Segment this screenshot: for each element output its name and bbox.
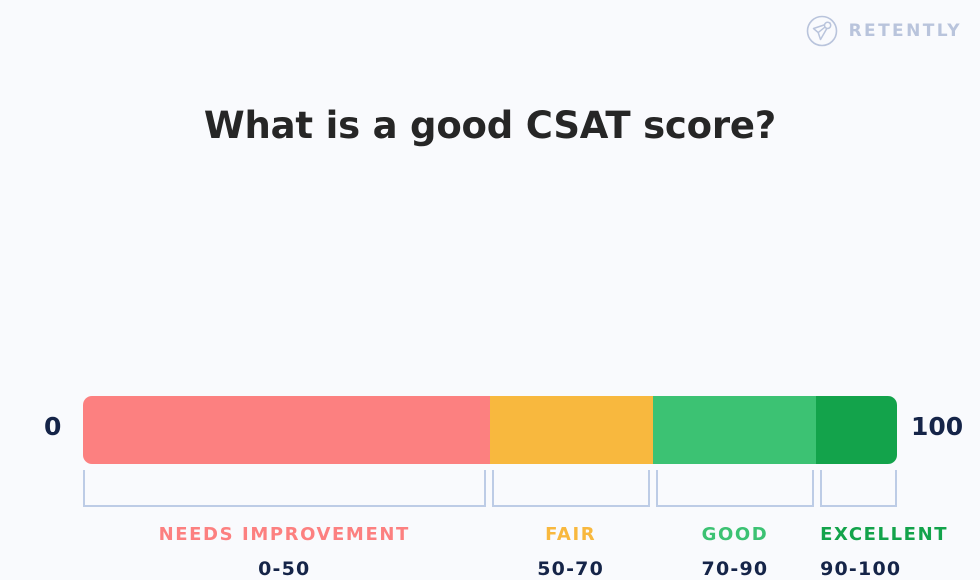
bracket-good (656, 470, 814, 507)
category-range-excellent: 90-100 (820, 558, 897, 580)
bar-segment-needs-improvement (83, 396, 490, 464)
category-name-good: GOOD (656, 524, 814, 546)
scale-max-label: 100 (911, 414, 963, 439)
bar-segment-good (653, 396, 816, 464)
csat-scale: 0 100 NEEDS IMPROVEMENT 0-50 FAIR 50-70 … (0, 196, 980, 406)
score-bar (83, 396, 897, 464)
category-labels: NEEDS IMPROVEMENT 0-50 FAIR 50-70 GOOD 7… (83, 524, 897, 580)
range-brackets (83, 470, 897, 507)
category-name-needs-improvement: NEEDS IMPROVEMENT (83, 524, 486, 546)
category-name-excellent: EXCELLENT (820, 524, 897, 546)
bracket-excellent (820, 470, 897, 507)
bracket-needs-improvement (83, 470, 486, 507)
retently-paperplane-circle-icon (805, 14, 839, 48)
label-col-good: GOOD 70-90 (656, 524, 814, 580)
category-range-needs-improvement: 0-50 (83, 558, 486, 580)
category-range-good: 70-90 (656, 558, 814, 580)
label-col-fair: FAIR 50-70 (492, 524, 650, 580)
label-col-needs-improvement: NEEDS IMPROVEMENT 0-50 (83, 524, 486, 580)
category-range-fair: 50-70 (492, 558, 650, 580)
category-name-fair: FAIR (492, 524, 650, 546)
brand-name: RETENTLY (849, 23, 962, 40)
brand-logo: RETENTLY (805, 14, 962, 48)
bar-segment-fair (490, 396, 653, 464)
label-col-excellent: EXCELLENT 90-100 (820, 524, 897, 580)
bracket-fair (492, 470, 650, 507)
page-title: What is a good CSAT score? (0, 104, 980, 147)
scale-min-label: 0 (44, 414, 61, 439)
bar-segment-excellent (816, 396, 897, 464)
